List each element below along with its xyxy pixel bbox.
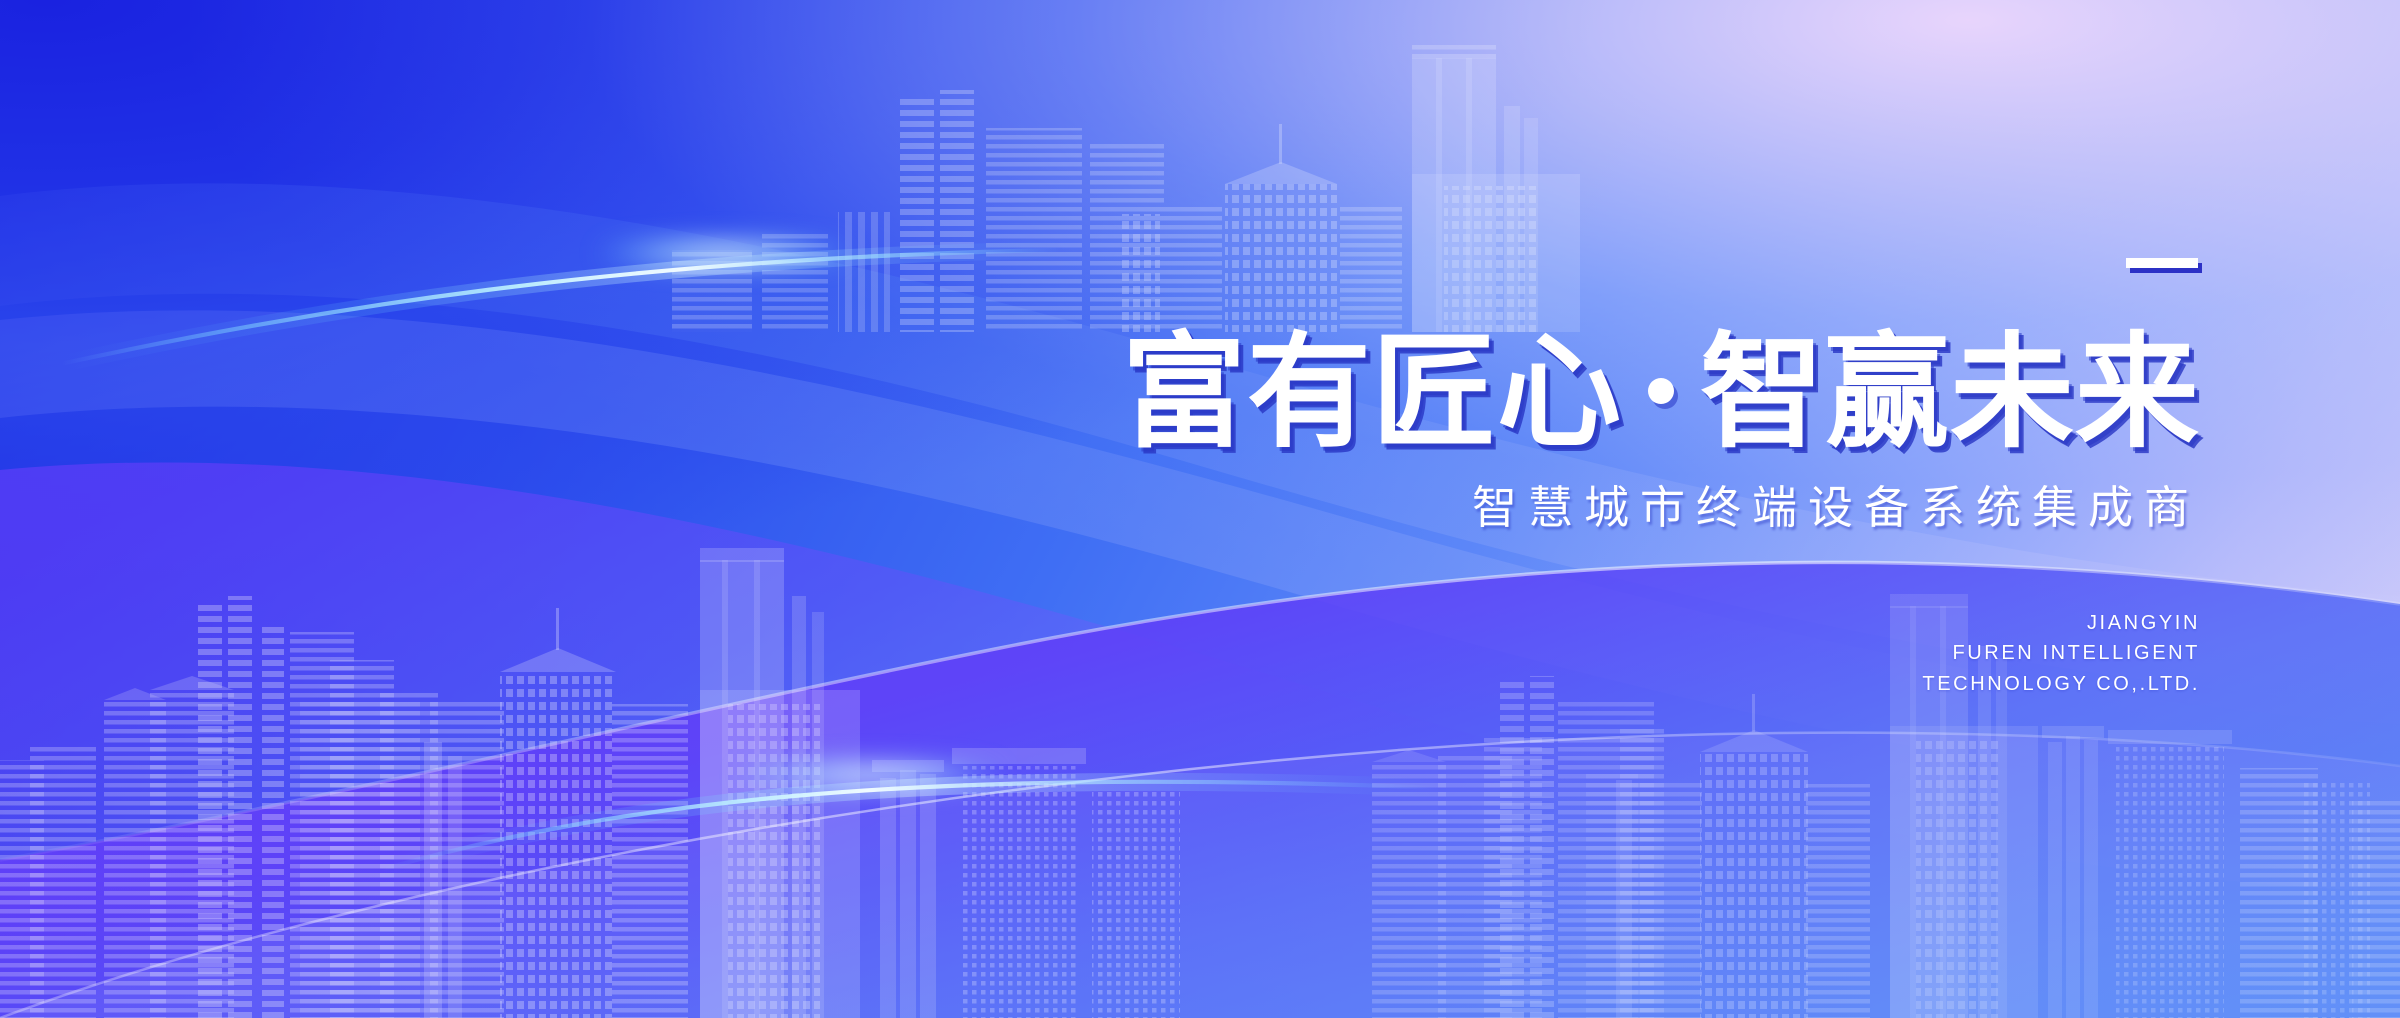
promotional-banner: 富有匠心智赢未来 智慧城市终端设备系统集成商 JIANGYIN FUREN IN… <box>0 0 2400 1018</box>
company-line-1: JIANGYIN <box>1020 608 2200 638</box>
top-rule-divider <box>2126 258 2198 268</box>
company-line-2: FUREN INTELLIGENT <box>1020 638 2200 668</box>
page-title: 富有匠心智赢未来 <box>1020 331 2200 455</box>
headline-right: 智赢未来 <box>1700 324 2200 462</box>
page-subtitle: 智慧城市终端设备系统集成商 <box>1020 481 2200 534</box>
banner-text-block: 富有匠心智赢未来 智慧城市终端设备系统集成商 JIANGYIN FUREN IN… <box>1020 258 2200 699</box>
headline-left: 富有匠心 <box>1122 324 1622 462</box>
company-line-3: TECHNOLOGY CO,.LTD. <box>1020 669 2200 699</box>
headline-separator-dot <box>1648 378 1674 404</box>
company-name-block: JIANGYIN FUREN INTELLIGENT TECHNOLOGY CO… <box>1020 608 2200 699</box>
